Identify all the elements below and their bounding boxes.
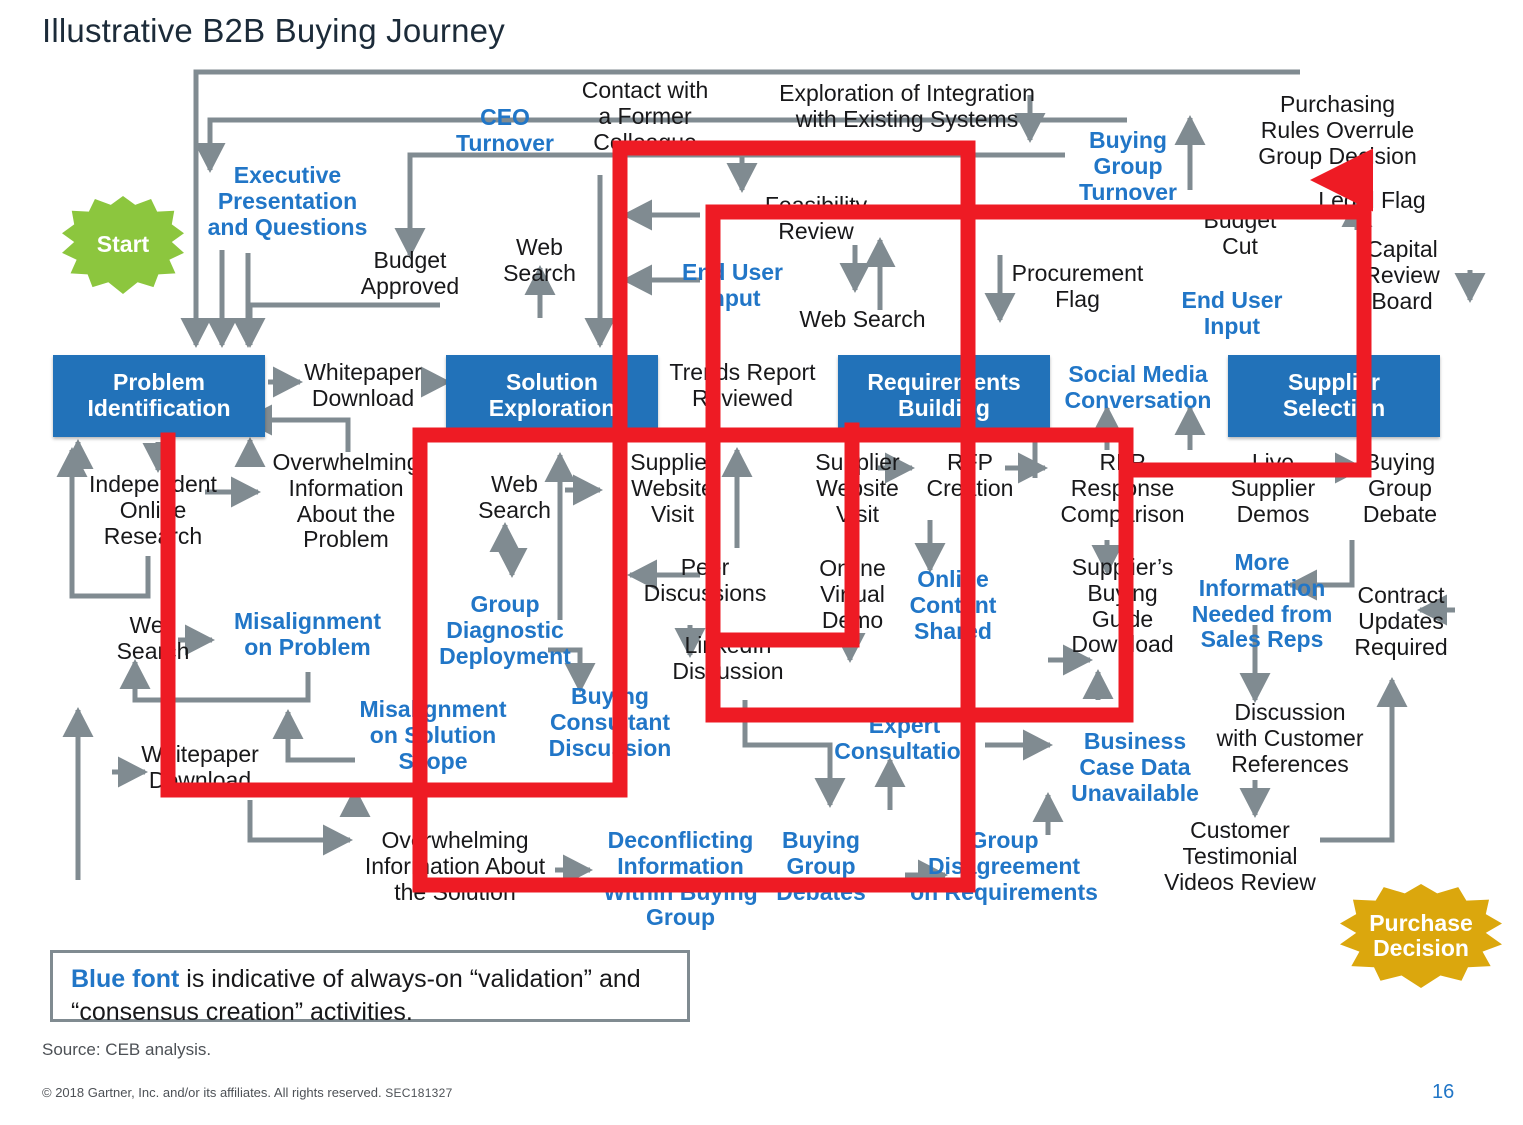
activity-end-user-input-right[interactable]: End User Input (1168, 288, 1296, 340)
activity-budget-cut[interactable]: Budget Cut (1185, 208, 1295, 260)
activity-label: CEO Turnover (456, 104, 554, 156)
activity-label: Group Diagnostic Deployment (439, 591, 571, 669)
activity-group-diagnostic-deployment[interactable]: Group Diagnostic Deployment (420, 592, 590, 669)
activity-online-content-shared[interactable]: Online Content Shared (898, 567, 1008, 644)
activity-label: Budget Approved (361, 247, 459, 299)
activity-label: Deconflicting Information Within Buying … (603, 827, 757, 930)
activity-label: Supplier’s Buying Guide Download (1071, 554, 1173, 657)
activity-web-search-problem[interactable]: Web Search (108, 613, 198, 665)
activity-web-search-solution[interactable]: Web Search (462, 472, 567, 524)
activity-buying-consultant-discussion[interactable]: Buying Consultant Discussion (530, 684, 690, 761)
activity-more-information-needed-from-sales-reps[interactable]: More Information Needed from Sales Reps (1178, 550, 1346, 653)
activity-overwhelming-information-about-the-problem[interactable]: Overwhelming Information About the Probl… (256, 450, 436, 553)
activity-contract-updates-required[interactable]: Contract Updates Required (1340, 583, 1462, 660)
activity-end-user-input-left[interactable]: End User Input (665, 260, 800, 312)
activity-independent-online-research[interactable]: Independent Online Research (62, 472, 244, 549)
activity-online-virtual-demo[interactable]: Online Virtual Demo (800, 556, 905, 633)
activity-peer-discussions[interactable]: Peer Discussions (625, 555, 785, 607)
activity-label: Independent Online Research (89, 471, 217, 549)
stage-problem-identification[interactable]: Problem Identification (53, 355, 265, 437)
activity-label: Buying Consultant Discussion (549, 683, 672, 761)
stage-label: Problem Identification (87, 370, 230, 422)
activity-linkedin-discussion[interactable]: LinkedIn Discussion (652, 633, 804, 685)
purchase-decision-label: Purchase Decision (1369, 911, 1473, 962)
activity-label: Supplier Website Visit (815, 449, 899, 527)
activity-trends-report-reviewed[interactable]: Trends Report Reviewed (655, 360, 830, 412)
activity-label: End User Input (1182, 287, 1283, 339)
activity-label: Misalignment on Problem (234, 608, 381, 660)
activity-legal-flag[interactable]: Legal Flag (1308, 188, 1436, 214)
activity-label: End User Input (682, 259, 783, 311)
activity-live-supplier-demos[interactable]: Live Supplier Demos (1208, 450, 1338, 527)
activity-label: Overwhelming Information About the Solut… (365, 827, 545, 905)
stage-label: Solution Exploration (489, 370, 616, 422)
activity-label: Online Virtual Demo (819, 555, 885, 633)
activity-misalignment-on-problem[interactable]: Misalignment on Problem (210, 609, 405, 661)
activity-buying-group-debate[interactable]: Buying Group Debate (1345, 450, 1455, 527)
stage-supplier-selection[interactable]: Supplier Selection (1228, 355, 1440, 437)
activity-label: Whitepaper Download (304, 359, 422, 411)
activity-label: Executive Presentation and Questions (208, 162, 368, 240)
activity-rfp-response-comparison[interactable]: RFP Response Comparison (1035, 450, 1210, 527)
activity-label: Web Search (478, 471, 551, 523)
activity-supplier-website-visit-2[interactable]: Supplier Website Visit (795, 450, 920, 527)
activity-contact-with-a-former-colleague[interactable]: Contact with a Former Colleague (555, 78, 735, 155)
activity-label: Peer Discussions (644, 554, 767, 606)
activity-supplier-website-visit-1[interactable]: Supplier Website Visit (610, 450, 735, 527)
activity-label: RFP Creation (927, 449, 1014, 501)
activity-label: Supplier Website Visit (630, 449, 714, 527)
activity-label: Misalignment on Solution Scope (360, 696, 507, 774)
activity-buying-group-debates[interactable]: Buying Group Debates (770, 828, 872, 905)
activity-label: Buying Group Debate (1363, 449, 1437, 527)
activity-rfp-creation[interactable]: RFP Creation (915, 450, 1025, 502)
activity-capital-review-board[interactable]: Capital Review Board (1348, 237, 1456, 314)
copyright-note: © 2018 Gartner, Inc. and/or its affiliat… (42, 1085, 453, 1100)
activity-label: Procurement Flag (1012, 260, 1144, 312)
slide-canvas: Illustrative B2B Buying Journey (0, 0, 1523, 1125)
activity-label: Trends Report Reviewed (669, 359, 815, 411)
activity-executive-presentation-and-questions[interactable]: Executive Presentation and Questions (195, 163, 380, 240)
activity-discussion-with-customer-references[interactable]: Discussion with Customer References (1200, 700, 1380, 777)
stage-label: Supplier Selection (1283, 370, 1385, 422)
activity-label: Discussion with Customer References (1217, 699, 1364, 777)
activity-procurement-flag[interactable]: Procurement Flag (995, 261, 1160, 313)
activity-label: Capital Review Board (1364, 236, 1439, 314)
activity-label: Overwhelming Information About the Probl… (273, 449, 420, 552)
page-number: 16 (1432, 1081, 1454, 1104)
activity-social-media-conversation[interactable]: Social Media Conversation (1058, 362, 1218, 414)
activity-label: Group Disagreement on Requirements (910, 827, 1098, 905)
start-label: Start (97, 232, 149, 257)
activity-misalignment-on-solution-scope[interactable]: Misalignment on Solution Scope (348, 697, 518, 774)
activity-web-search-mid-top[interactable]: Web Search (790, 307, 935, 333)
activity-label: Whitepaper Download (141, 741, 259, 793)
activity-label: LinkedIn Discussion (672, 632, 783, 684)
activity-label: Purchasing Rules Overrule Group Decision (1258, 91, 1417, 169)
activity-label: Buying Group Turnover (1079, 127, 1177, 205)
activity-deconflicting-information-within-buying-group[interactable]: Deconflicting Information Within Buying … (588, 828, 773, 931)
activity-whitepaper-download-top[interactable]: Whitepaper Download (288, 360, 438, 412)
activity-web-search-top-left[interactable]: Web Search (487, 235, 592, 287)
activity-label: Online Content Shared (910, 566, 997, 644)
activity-purchasing-rules-overrule-group-decision[interactable]: Purchasing Rules Overrule Group Decision (1245, 92, 1430, 169)
stage-label: Requirements Building (867, 370, 1020, 422)
stage-requirements-building[interactable]: Requirements Building (838, 355, 1050, 437)
legend-bold-lead: Blue font (71, 965, 179, 993)
activity-label: Contact with a Former Colleague (582, 77, 709, 155)
activity-label: Legal Flag (1318, 187, 1425, 213)
activity-group-disagreement-on-requirements[interactable]: Group Disagreement on Requirements (898, 828, 1110, 905)
activity-suppliers-buying-guide-download[interactable]: Supplier’s Buying Guide Download (1050, 555, 1195, 658)
activity-label: Web Search (503, 234, 576, 286)
source-note: Source: CEB analysis. (42, 1040, 211, 1060)
activity-label: Feasibility Review (765, 192, 867, 244)
activity-whitepaper-download-bottom[interactable]: Whitepaper Download (120, 742, 280, 794)
activity-label: Web Search (799, 306, 925, 332)
activity-label: Contract Updates Required (1354, 582, 1447, 660)
legend-box: Blue font is indicative of always-on “va… (50, 950, 690, 1022)
activity-exploration-of-integration-with-existing-systems[interactable]: Exploration of Integration with Existing… (757, 81, 1057, 133)
activity-label: Expert Consultation (834, 712, 975, 764)
activity-overwhelming-information-about-the-solution[interactable]: Overwhelming Information About the Solut… (340, 828, 570, 905)
purchase-decision-marker: Purchase Decision (1340, 884, 1502, 988)
stage-solution-exploration[interactable]: Solution Exploration (446, 355, 658, 437)
activity-label: Budget Cut (1204, 207, 1277, 259)
activity-label: Buying Group Debates (776, 827, 865, 905)
activity-feasibility-review[interactable]: Feasibility Review (745, 193, 887, 245)
page-title: Illustrative B2B Buying Journey (42, 12, 505, 50)
activity-label: Social Media Conversation (1065, 361, 1212, 413)
activity-label: Customer Testimonial Videos Review (1164, 817, 1316, 895)
activity-label: Exploration of Integration with Existing… (779, 80, 1035, 132)
activity-business-case-data-unavailable[interactable]: Business Case Data Unavailable (1060, 729, 1210, 806)
activity-label: Live Supplier Demos (1231, 449, 1315, 527)
activity-label: Web Search (117, 612, 190, 664)
activity-label: Business Case Data Unavailable (1071, 728, 1199, 806)
copyright-code: SEC181327 (385, 1086, 452, 1100)
copyright-text: © 2018 Gartner, Inc. and/or its affiliat… (42, 1085, 385, 1100)
activity-expert-consultation[interactable]: Expert Consultation (822, 713, 987, 765)
start-marker: Start (62, 196, 184, 294)
activity-customer-testimonial-videos-review[interactable]: Customer Testimonial Videos Review (1150, 818, 1330, 895)
activity-ceo-turnover[interactable]: CEO Turnover (440, 105, 570, 157)
activity-budget-approved[interactable]: Budget Approved (330, 248, 490, 300)
activity-buying-group-turnover[interactable]: Buying Group Turnover (1062, 128, 1194, 205)
activity-label: More Information Needed from Sales Reps (1192, 549, 1333, 652)
activity-label: RFP Response Comparison (1061, 449, 1185, 527)
